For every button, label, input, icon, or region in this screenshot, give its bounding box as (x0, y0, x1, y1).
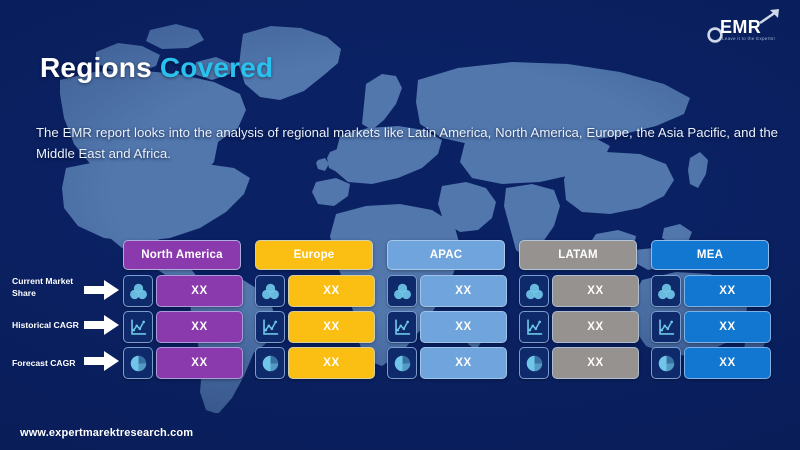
cell-value[interactable]: XX (420, 347, 507, 379)
table-row: XX (519, 347, 637, 377)
page-title-accent: Covered (160, 52, 273, 83)
venn-diagram-icon (387, 275, 417, 307)
arrow-right-icon (84, 279, 120, 301)
pie-chart-icon (387, 347, 417, 379)
venn-diagram-icon (123, 275, 153, 307)
table-row: XX (387, 347, 505, 377)
cell-value[interactable]: XX (156, 347, 243, 379)
line-chart-icon (255, 311, 285, 343)
table-row: XX (387, 275, 505, 305)
row-label-historical-cagr: Historical CAGR (12, 320, 90, 332)
cell-value[interactable]: XX (288, 311, 375, 343)
region-column-europe: Europe XX XX (255, 240, 373, 270)
cell-value[interactable]: XX (684, 275, 771, 307)
region-header-north-america[interactable]: North America (123, 240, 241, 270)
venn-diagram-icon (651, 275, 681, 307)
slide-canvas: EMR Leave it to the Experts! Regions Cov… (0, 0, 800, 450)
pie-chart-icon (651, 347, 681, 379)
emr-logo[interactable]: EMR Leave it to the Experts! (702, 6, 786, 46)
venn-diagram-icon (519, 275, 549, 307)
cell-value[interactable]: XX (684, 311, 771, 343)
table-row: XX (123, 275, 241, 305)
table-row: XX (123, 347, 241, 377)
pie-chart-icon (123, 347, 153, 379)
line-chart-icon (651, 311, 681, 343)
venn-diagram-icon (255, 275, 285, 307)
cell-value[interactable]: XX (552, 311, 639, 343)
svg-text:EMR: EMR (720, 17, 761, 37)
line-chart-icon (387, 311, 417, 343)
table-row: XX (519, 311, 637, 341)
table-row: XX (255, 311, 373, 341)
row-label-current-market-share: Current Market Share (12, 276, 90, 299)
row-label-forecast-cagr: Forecast CAGR (12, 358, 90, 370)
region-column-apac: APAC XX XX (387, 240, 505, 270)
region-column-latam: LATAM XX XX (519, 240, 637, 270)
table-row: XX (651, 347, 769, 377)
page-title-main: Regions (40, 52, 160, 83)
cell-value[interactable]: XX (420, 275, 507, 307)
cell-value[interactable]: XX (684, 347, 771, 379)
cell-value[interactable]: XX (288, 275, 375, 307)
intro-paragraph: The EMR report looks into the analysis o… (36, 122, 778, 164)
cell-value[interactable]: XX (288, 347, 375, 379)
table-row: XX (255, 347, 373, 377)
table-row: XX (651, 275, 769, 305)
line-chart-icon (123, 311, 153, 343)
line-chart-icon (519, 311, 549, 343)
cell-value[interactable]: XX (156, 311, 243, 343)
footer-url[interactable]: www.expertmarektresearch.com (20, 427, 193, 439)
page-title: Regions Covered (40, 52, 273, 84)
table-row: XX (519, 275, 637, 305)
table-row: XX (651, 311, 769, 341)
pie-chart-icon (519, 347, 549, 379)
arrow-right-icon (84, 350, 120, 372)
table-row: XX (255, 275, 373, 305)
arrow-right-icon (84, 314, 120, 336)
svg-text:Leave it to the Experts!: Leave it to the Experts! (722, 36, 775, 41)
table-row: XX (123, 311, 241, 341)
region-header-mea[interactable]: MEA (651, 240, 769, 270)
table-row: XX (387, 311, 505, 341)
pie-chart-icon (255, 347, 285, 379)
cell-value[interactable]: XX (156, 275, 243, 307)
region-header-apac[interactable]: APAC (387, 240, 505, 270)
regions-table: North America XX XX (123, 240, 783, 385)
region-column-mea: MEA XX XX (651, 240, 769, 270)
region-header-latam[interactable]: LATAM (519, 240, 637, 270)
cell-value[interactable]: XX (552, 275, 639, 307)
region-header-europe[interactable]: Europe (255, 240, 373, 270)
region-column-north-america: North America XX XX (123, 240, 241, 270)
cell-value[interactable]: XX (552, 347, 639, 379)
cell-value[interactable]: XX (420, 311, 507, 343)
